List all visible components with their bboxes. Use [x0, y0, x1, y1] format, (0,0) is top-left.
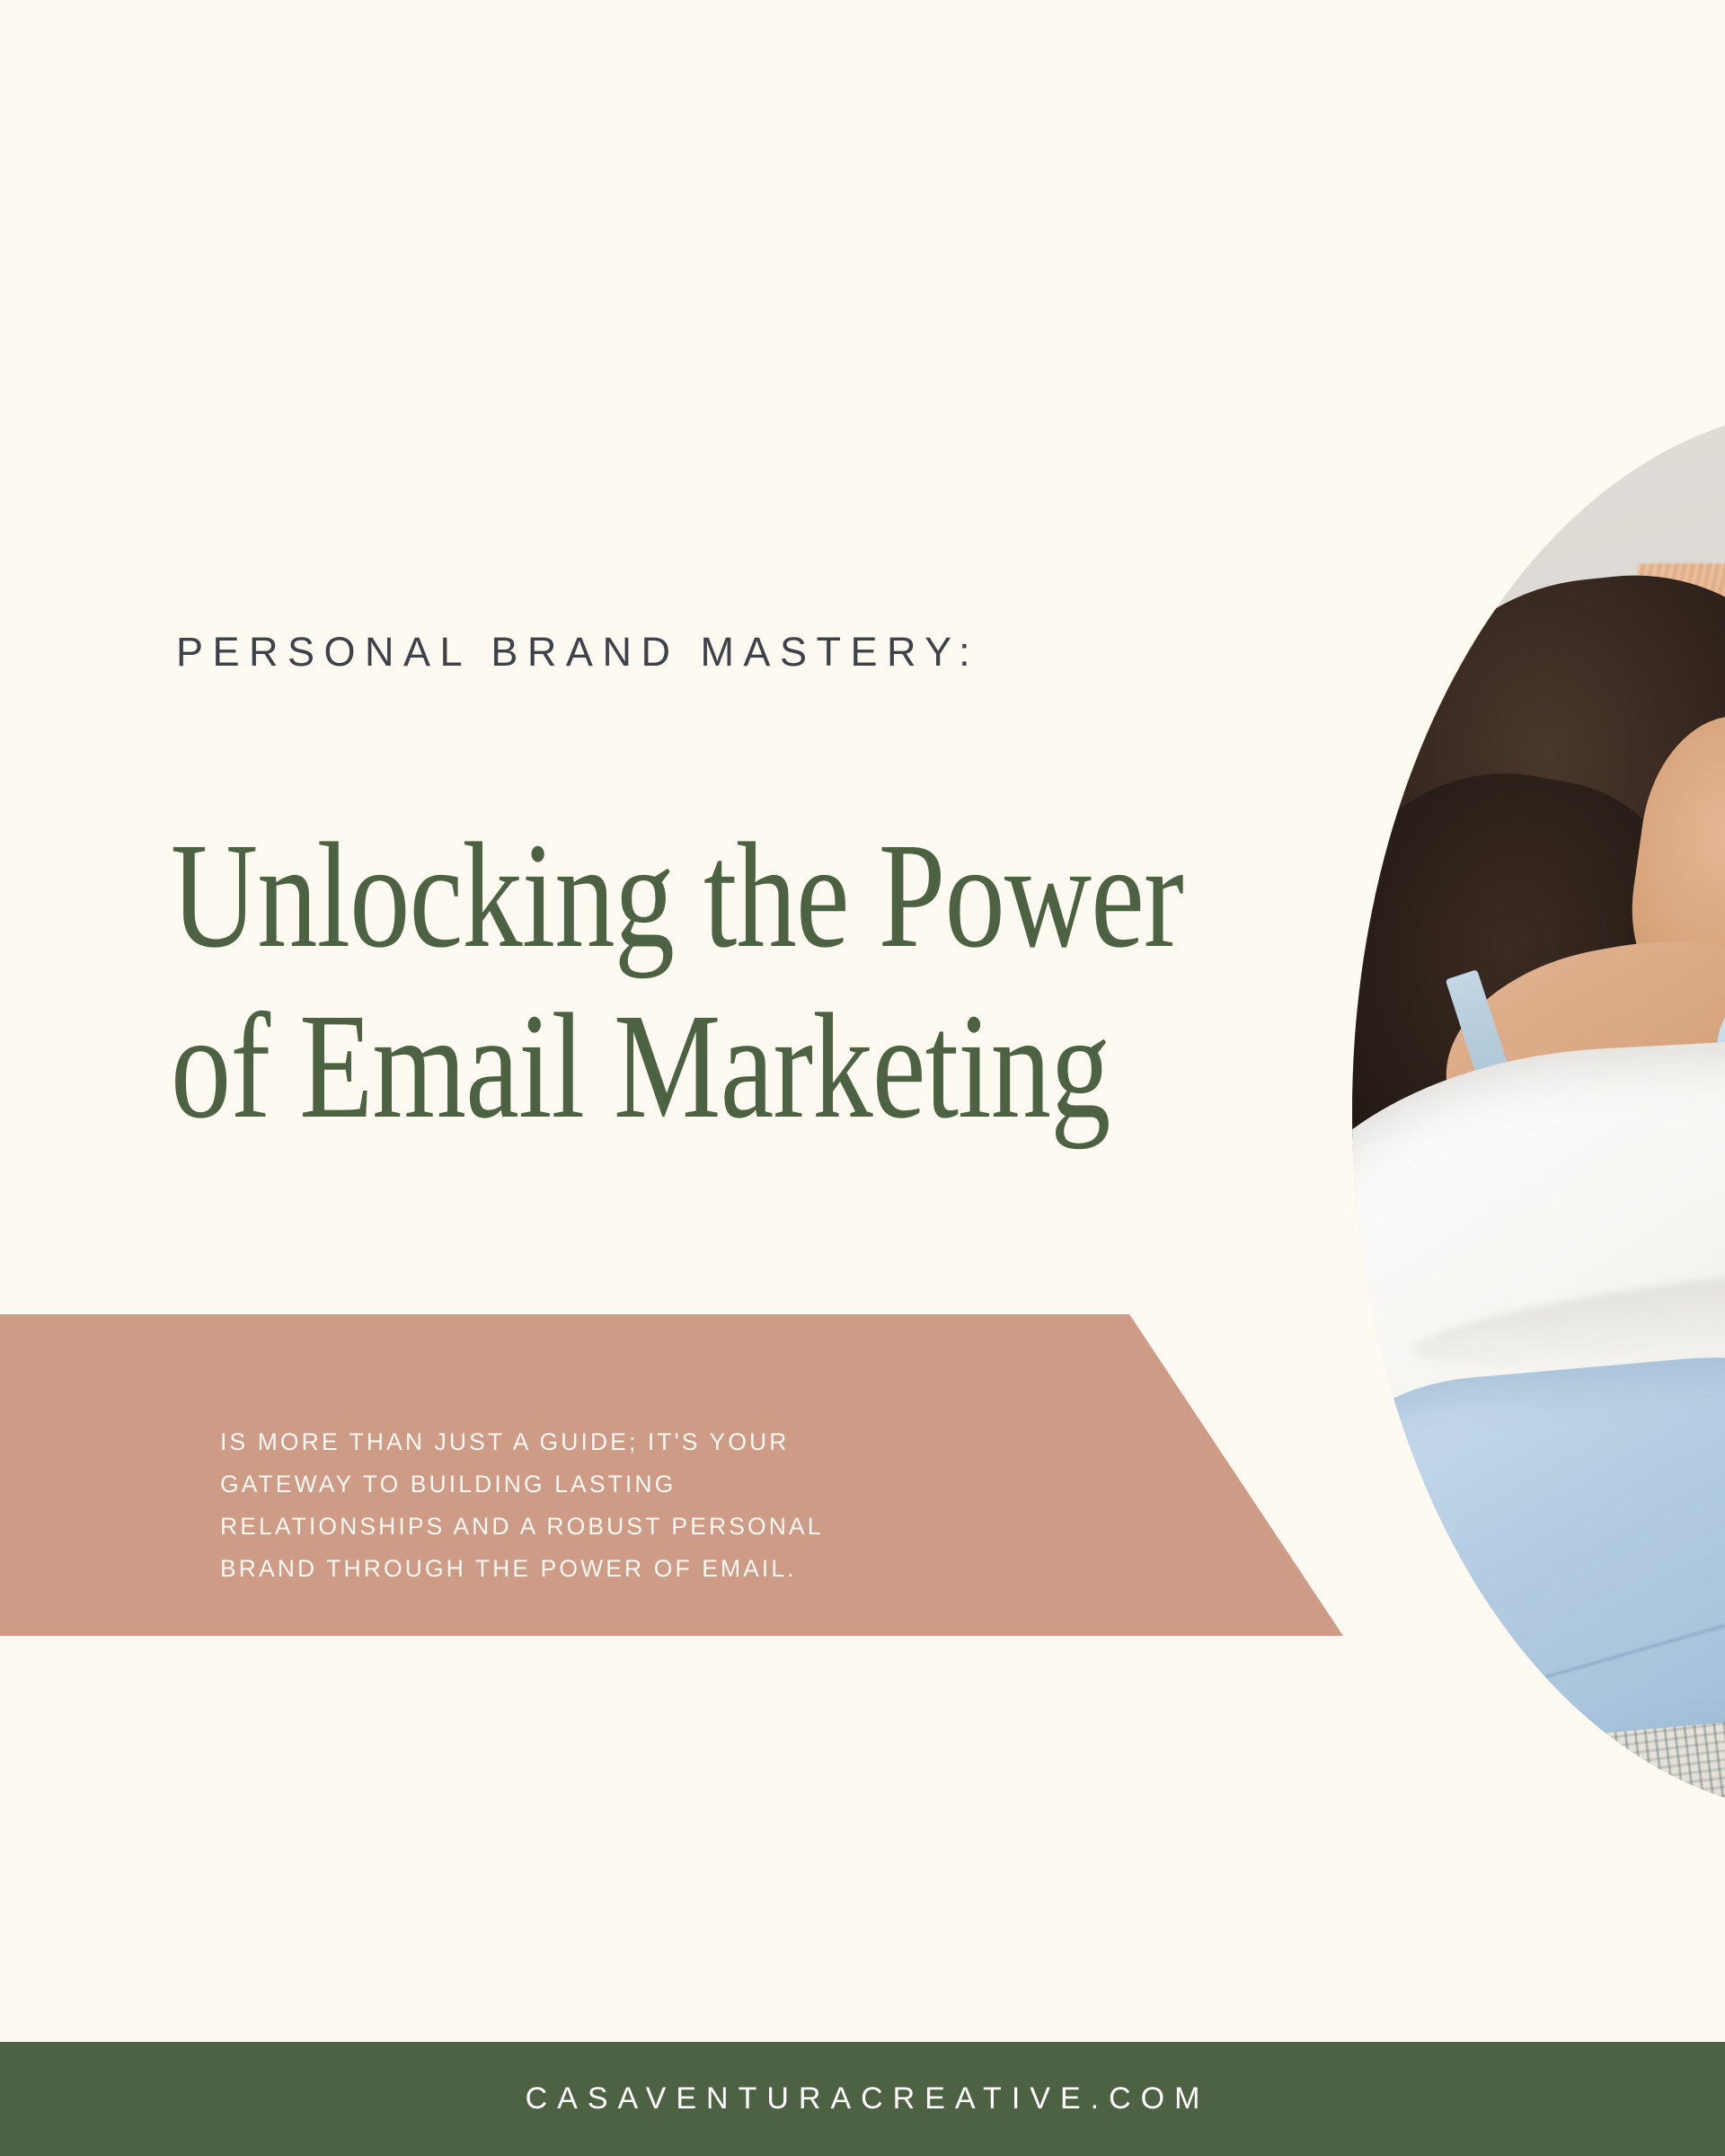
cover-page: PERSONAL BRAND MASTERY: Unlocking the Po…	[0, 0, 1725, 2156]
eyebrow-label: PERSONAL BRAND MASTERY:	[176, 629, 979, 676]
subtitle-line-4: BRAND THROUGH THE POWER OF EMAIL.	[220, 1548, 930, 1590]
headline-line-2: of Email Marketing	[171, 991, 1148, 1142]
footer-bar: CASAVENTURACREATIVE.COM	[0, 2042, 1725, 2156]
subtitle-line-2: GATEWAY TO BUILDING LASTING	[220, 1463, 930, 1506]
subtitle-line-1: IS MORE THAN JUST A GUIDE; IT'S YOUR	[220, 1421, 930, 1463]
footer-website-url[interactable]: CASAVENTURACREATIVE.COM	[516, 2081, 1210, 2116]
subtitle-text: IS MORE THAN JUST A GUIDE; IT'S YOUR GAT…	[220, 1421, 930, 1590]
hero-photo-circle	[1352, 409, 1725, 1815]
page-title: Unlocking the Power of Email Marketing	[171, 820, 1148, 1142]
photo-jeans	[1352, 1339, 1725, 1755]
hero-photo-image	[1352, 409, 1725, 1815]
headline-line-1: Unlocking the Power	[171, 820, 1148, 971]
subtitle-line-3: RELATIONSHIPS AND A ROBUST PERSONAL	[220, 1506, 930, 1548]
